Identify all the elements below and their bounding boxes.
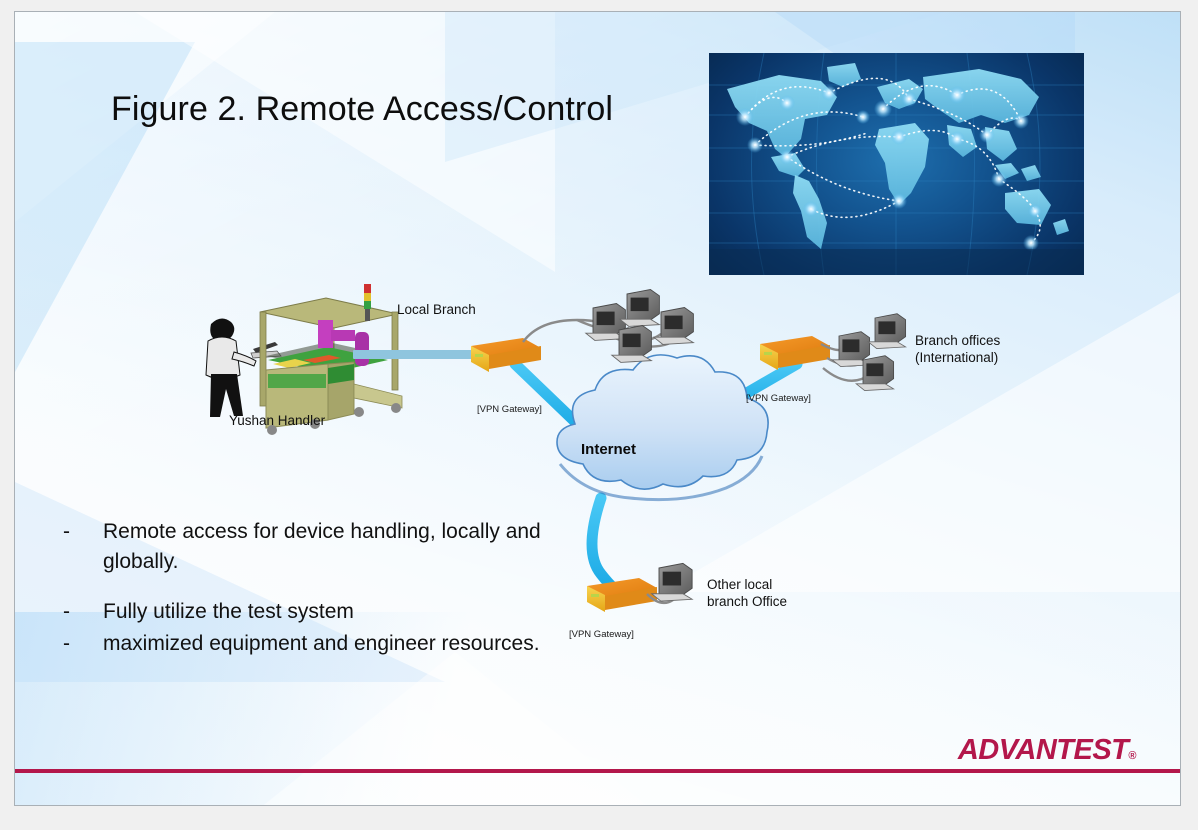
handler-link: [353, 350, 475, 359]
vpn-gateway-other-local: [587, 578, 657, 612]
label-internet-cloud: Internet: [581, 441, 636, 458]
bullet-dash: -: [63, 597, 103, 627]
link-local-to-internet: [515, 364, 591, 437]
vpn-gateway-local: [471, 338, 541, 372]
bullet-text: Remote access for device handling, local…: [103, 517, 543, 577]
background-facet-8: [660, 292, 1180, 592]
label-local-branch: Local Branch: [397, 301, 476, 318]
bullet-spacer: [63, 579, 543, 597]
bullet-text: Fully utilize the test system: [103, 597, 354, 627]
advantest-logo: ADVANTEST®: [958, 734, 1136, 767]
bullet-text: maximized equipment and engineer resourc…: [103, 629, 540, 659]
background-facet-7: [255, 652, 655, 806]
bullet-item: - maximized equipment and engineer resou…: [63, 629, 543, 659]
label-yushan-handler: Yushan Handler: [229, 412, 325, 429]
page-title: Figure 2. Remote Access/Control: [111, 90, 613, 129]
registered-mark: ®: [1128, 750, 1136, 762]
label-vpn-gateway-local: [VPN Gateway]: [477, 404, 542, 415]
slide-canvas: Figure 2. Remote Access/Control: [14, 11, 1181, 806]
bullet-list: - Remote access for device handling, loc…: [63, 517, 543, 661]
bullet-item: - Remote access for device handling, loc…: [63, 517, 543, 577]
label-vpn-gateway-other: [VPN Gateway]: [569, 629, 634, 640]
link-internet-to-other: [592, 498, 627, 598]
bullet-dash: -: [63, 629, 103, 659]
footer-rule: [15, 769, 1181, 773]
advantest-logo-text: ADVANTEST: [958, 734, 1129, 766]
yushan-handler-illustration: [206, 284, 402, 435]
world-network-map: [709, 53, 1084, 275]
bullet-dash: -: [63, 517, 103, 577]
bullet-item: - Fully utilize the test system: [63, 597, 543, 627]
